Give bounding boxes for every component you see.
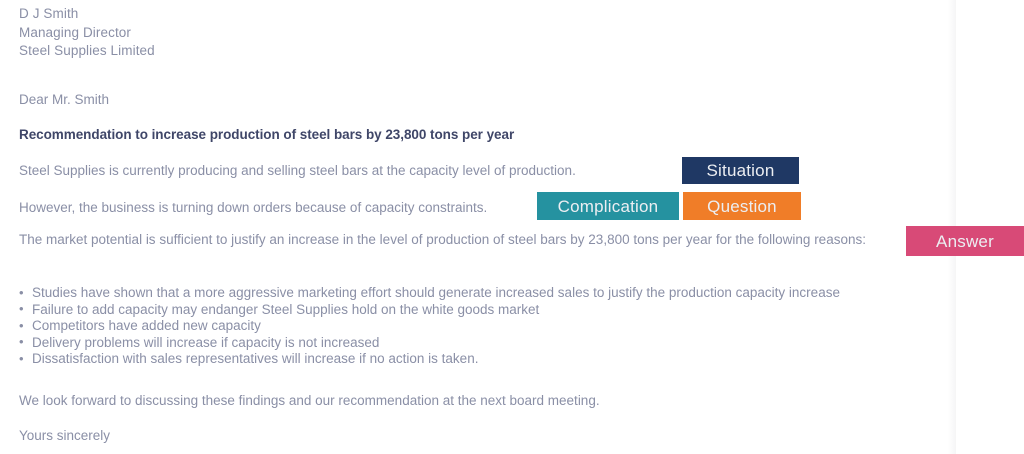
situation-paragraph: Steel Supplies is currently producing an… bbox=[19, 162, 576, 180]
signoff: Yours sincerely bbox=[19, 427, 110, 445]
complication-paragraph: However, the business is turning down or… bbox=[19, 199, 487, 217]
list-item: Dissatisfaction with sales representativ… bbox=[19, 351, 939, 368]
badge-complication: Complication bbox=[537, 192, 679, 220]
salutation: Dear Mr. Smith bbox=[19, 91, 109, 109]
letter-sheet bbox=[0, 0, 956, 454]
document-page: D J Smith Managing Director Steel Suppli… bbox=[0, 0, 1024, 454]
list-item: Delivery problems will increase if capac… bbox=[19, 335, 939, 352]
reasons-list: Studies have shown that a more aggressiv… bbox=[19, 285, 939, 368]
badge-question: Question bbox=[683, 192, 801, 220]
list-item: Competitors have added new capacity bbox=[19, 318, 939, 335]
badge-answer: Answer bbox=[906, 226, 1024, 256]
answer-paragraph: The market potential is sufficient to ju… bbox=[19, 231, 914, 250]
recipient-address-block: D J Smith Managing Director Steel Suppli… bbox=[19, 5, 519, 61]
recipient-company: Steel Supplies Limited bbox=[19, 42, 519, 61]
list-item: Studies have shown that a more aggressiv… bbox=[19, 285, 939, 302]
recommendation-heading: Recommendation to increase production of… bbox=[19, 126, 514, 144]
badge-situation: Situation bbox=[682, 157, 799, 184]
recipient-name: D J Smith bbox=[19, 5, 519, 24]
recipient-title: Managing Director bbox=[19, 24, 519, 43]
closing-paragraph: We look forward to discussing these find… bbox=[19, 392, 600, 410]
list-item: Failure to add capacity may endanger Ste… bbox=[19, 302, 939, 319]
